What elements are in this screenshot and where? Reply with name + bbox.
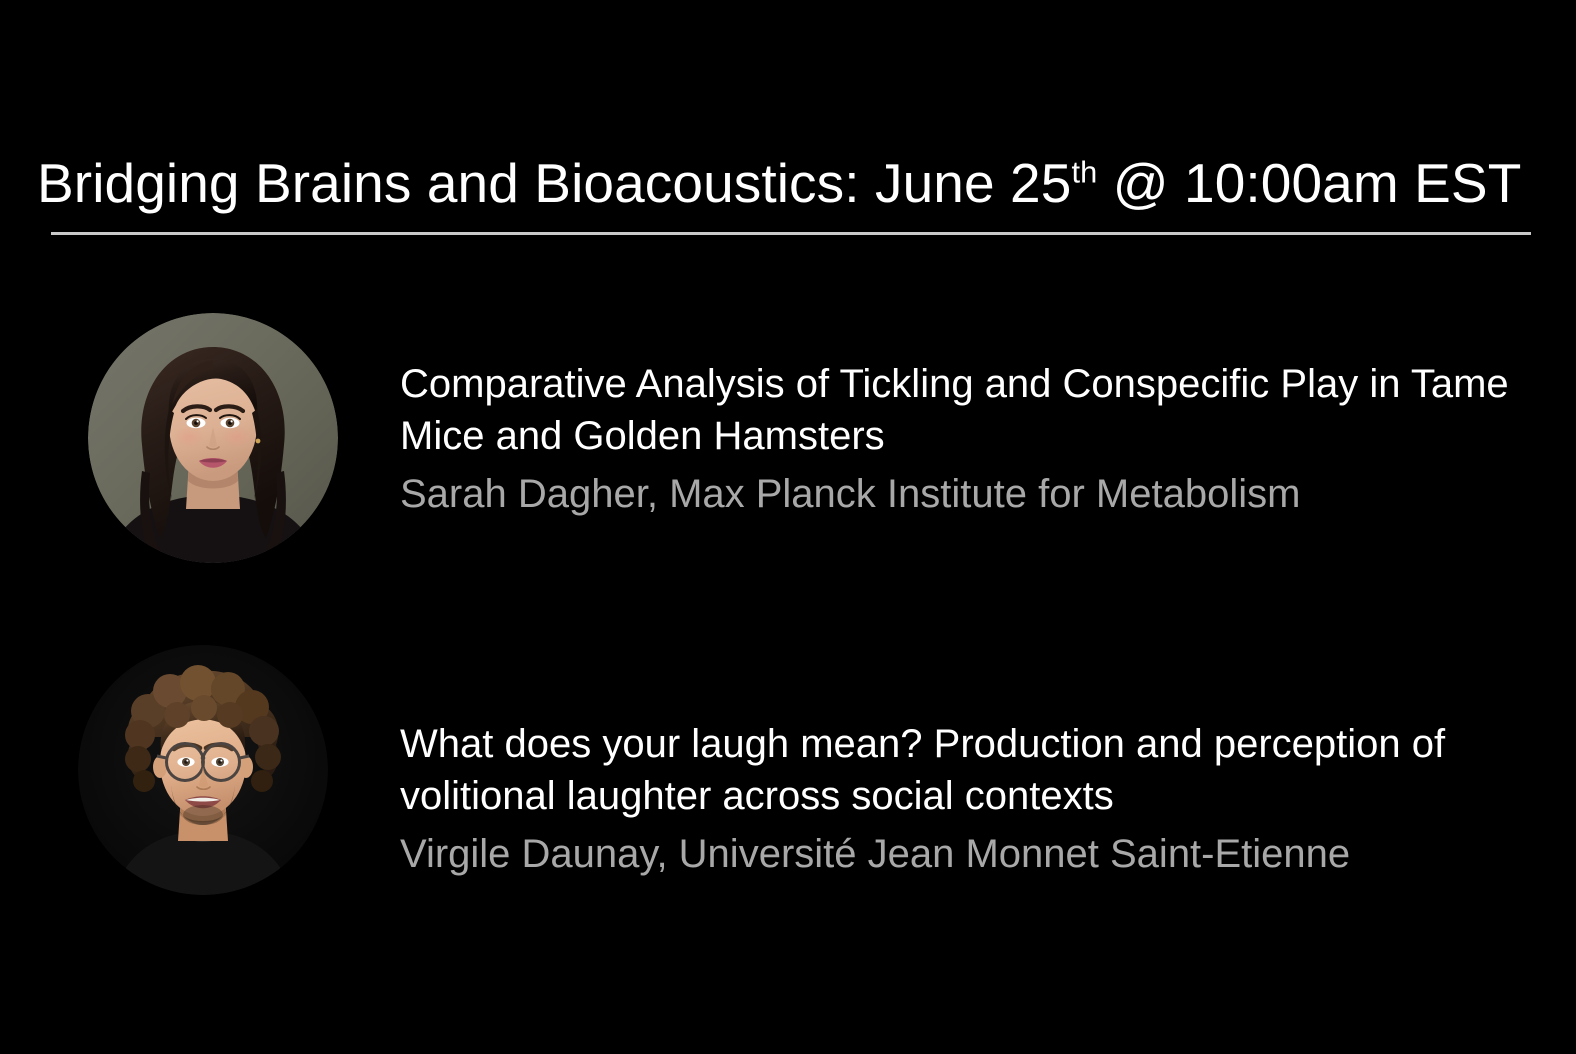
speaker-portrait-sarah-dagher	[88, 313, 338, 563]
page-title-tail: @ 10:00am EST	[1097, 152, 1521, 214]
talk-title: Comparative Analysis of Tickling and Con…	[400, 358, 1510, 462]
talk-entry: What does your laugh mean? Production an…	[0, 645, 1510, 895]
presentation-slide: Bridging Brains and Bioacoustics: June 2…	[0, 0, 1576, 1054]
avatar	[78, 645, 328, 895]
avatar	[88, 313, 338, 563]
talk-speaker-affiliation: Virgile Daunay, Université Jean Monnet S…	[400, 828, 1510, 880]
page-title-main: Bridging Brains and Bioacoustics: June 2…	[37, 152, 1071, 214]
page-title: Bridging Brains and Bioacoustics: June 2…	[37, 152, 1547, 214]
slide-header: Bridging Brains and Bioacoustics: June 2…	[37, 152, 1547, 214]
talk-text-block: Comparative Analysis of Tickling and Con…	[400, 313, 1510, 520]
talk-entry: Comparative Analysis of Tickling and Con…	[0, 313, 1510, 563]
talk-title: What does your laugh mean? Production an…	[400, 718, 1510, 822]
talk-speaker-affiliation: Sarah Dagher, Max Planck Institute for M…	[400, 468, 1510, 520]
title-underline-divider	[51, 232, 1531, 235]
speaker-portrait-virgile-daunay	[78, 645, 328, 895]
talk-text-block: What does your laugh mean? Production an…	[400, 645, 1510, 880]
page-title-ordinal-suffix: th	[1071, 155, 1097, 190]
